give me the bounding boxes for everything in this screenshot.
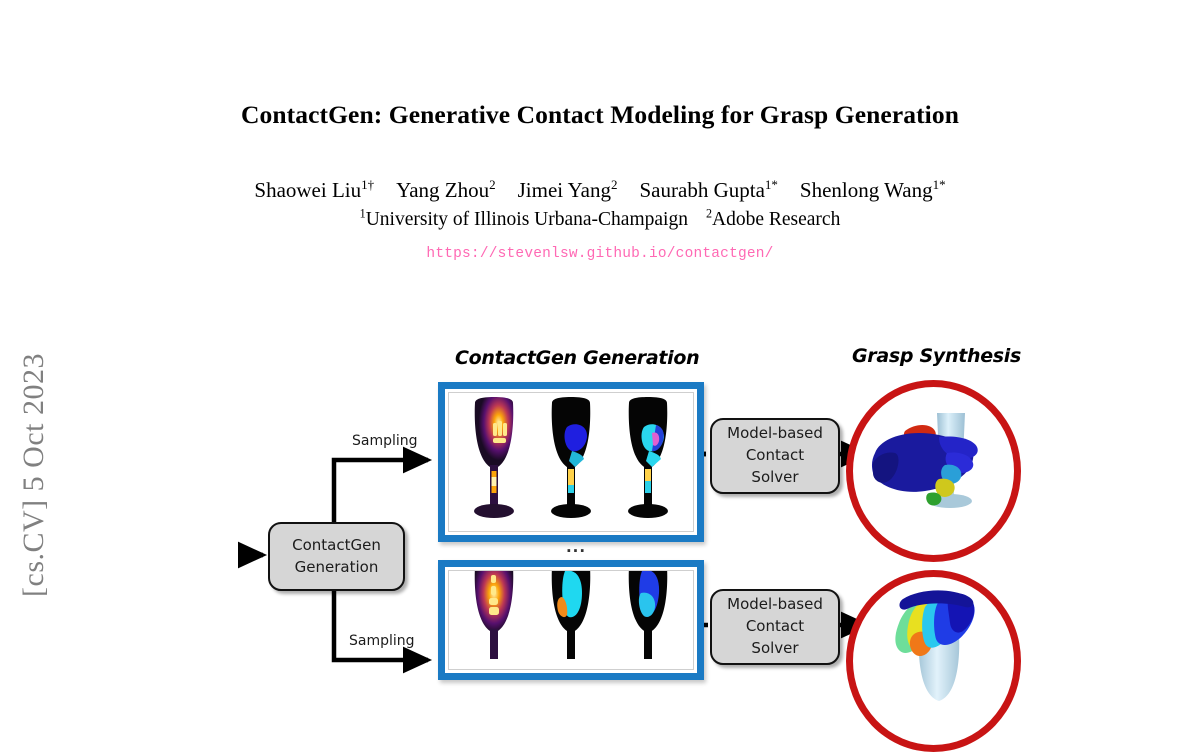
sample-panel-row2-inner xyxy=(448,570,694,670)
sample-panel-row2[interactable] xyxy=(438,560,704,680)
sample-panel-row1-inner xyxy=(448,392,694,532)
node-model-based-contact-solver-top[interactable]: Model-based Contact Solver xyxy=(710,418,840,494)
author-name: Yang Zhou xyxy=(396,178,489,202)
sample-contact-heatmap xyxy=(457,570,531,665)
edge-label-sampling-bottom: Sampling xyxy=(349,633,415,649)
result-grasp-side-view[interactable] xyxy=(846,380,1021,562)
grasp-hand-top-render xyxy=(853,577,1014,745)
affiliation-list: 1University of Illinois Urbana-Champaign… xyxy=(0,208,1200,232)
author-affiliation-marker: 1* xyxy=(765,177,778,192)
node-contactgen-generation[interactable]: ContactGen Generation xyxy=(268,522,405,591)
teaser-figure: ContactGen Generation Grasp Synthesis xyxy=(0,330,1200,648)
author-affiliation-marker: 1† xyxy=(361,177,374,192)
node-solver-label: Model-based Contact Solver xyxy=(727,594,823,659)
affiliation-name: Adobe Research xyxy=(712,209,840,230)
author-affiliation-marker: 2 xyxy=(489,177,496,192)
page-title: ContactGen: Generative Contact Modeling … xyxy=(0,101,1200,129)
affiliation-entry: 1University of Illinois Urbana-Champaign xyxy=(360,209,688,230)
author-entry: Shenlong Wang1* xyxy=(800,178,946,202)
author-affiliation-marker: 2 xyxy=(611,177,618,192)
author-name: Shenlong Wang xyxy=(800,178,933,202)
author-list: Shaowei Liu1†Yang Zhou2Jimei Yang2Saurab… xyxy=(0,177,1200,203)
author-name: Shaowei Liu xyxy=(254,178,361,202)
author-name: Saurabh Gupta xyxy=(640,178,765,202)
node-contactgen-generation-label: ContactGen Generation xyxy=(292,535,381,579)
result-grasp-top-view[interactable] xyxy=(846,570,1021,752)
edge-label-sampling-top: Sampling xyxy=(352,433,418,449)
sample-contact-part xyxy=(534,392,608,527)
author-entry: Yang Zhou2 xyxy=(396,178,495,202)
grasp-hand-side-render xyxy=(853,387,1014,555)
sample-contact-direction xyxy=(611,392,685,527)
ellipsis-more-samples: ... xyxy=(556,538,596,556)
node-model-based-contact-solver-bottom[interactable]: Model-based Contact Solver xyxy=(710,589,840,665)
affiliation-entry: 2Adobe Research xyxy=(706,209,840,230)
sample-panel-row1[interactable] xyxy=(438,382,704,542)
sample-contact-direction xyxy=(611,570,685,665)
author-entry: Saurabh Gupta1* xyxy=(640,178,778,202)
paper-header: ContactGen: Generative Contact Modeling … xyxy=(0,0,1200,262)
author-name: Jimei Yang xyxy=(518,178,611,202)
author-affiliation-marker: 1* xyxy=(933,177,946,192)
sample-contact-part xyxy=(534,570,608,665)
node-solver-label: Model-based Contact Solver xyxy=(727,423,823,488)
affiliation-name: University of Illinois Urbana-Champaign xyxy=(366,209,688,230)
author-entry: Shaowei Liu1† xyxy=(254,178,374,202)
project-url-link[interactable]: https://stevenlsw.github.io/contactgen/ xyxy=(0,246,1200,262)
sample-contact-heatmap xyxy=(457,392,531,527)
author-entry: Jimei Yang2 xyxy=(518,178,618,202)
